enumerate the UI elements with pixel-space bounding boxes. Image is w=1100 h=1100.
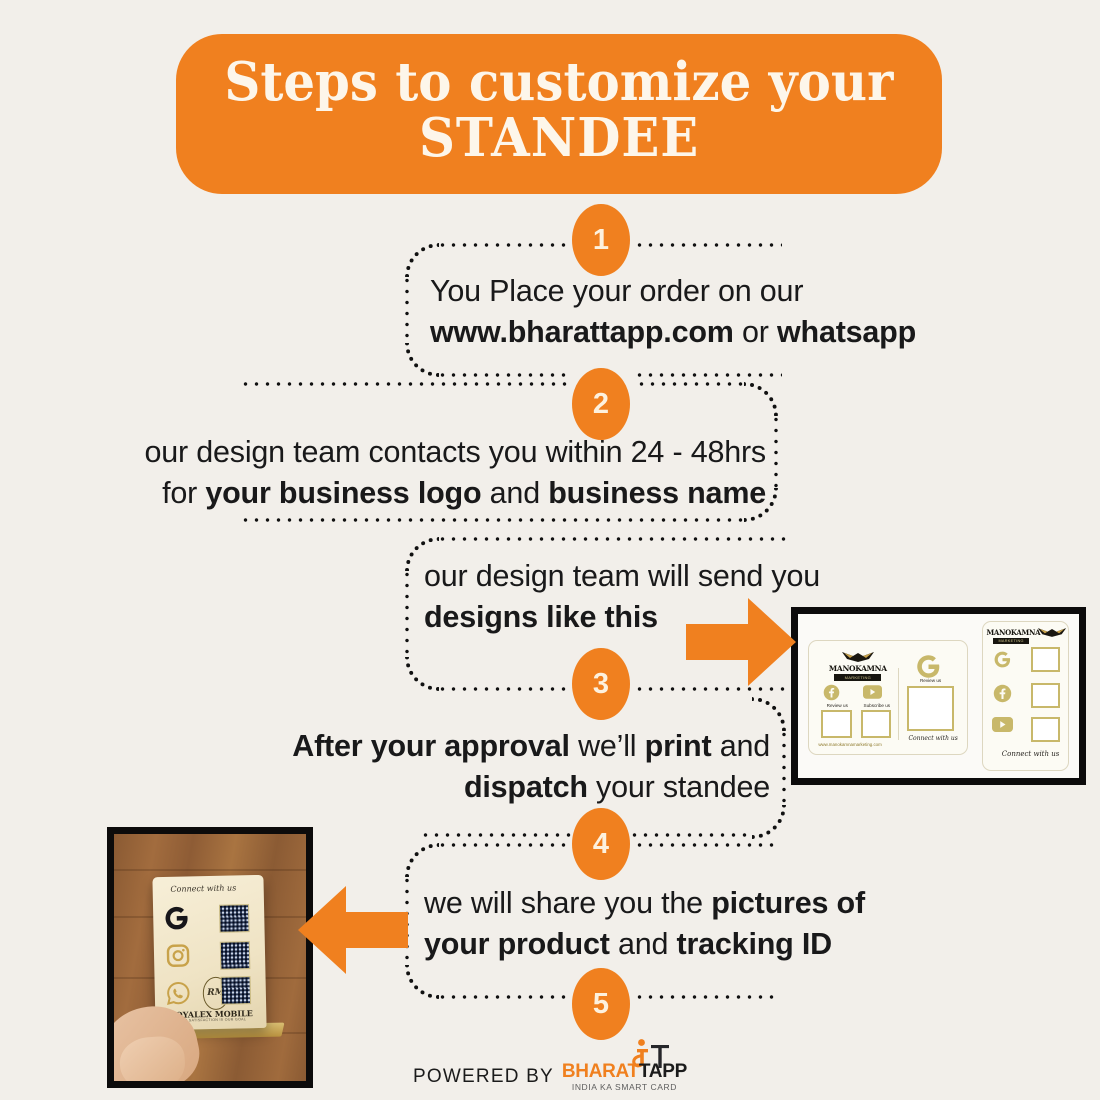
step-4-line-1-end: and [711,729,770,763]
step-5-line-1-prefix: we will share you the [424,886,711,920]
powered-by-label: POWERED BY [413,1066,554,1088]
design-qr-placeholder-2 [861,710,891,738]
step-1-text: You Place your order on our www.bharatta… [430,271,970,352]
standee-qr-3 [221,976,251,1005]
wings-m-icon-tall [1037,626,1067,639]
design-qr-placeholder-1 [821,710,851,738]
design-connect-script-tall: Connect with us [1002,750,1060,758]
step-5-tracking-phrase: tracking ID [677,927,832,961]
step-1-channel: whatsapp [777,315,916,349]
design-website: www.manokamnamarketing.com [818,742,881,747]
step-4-line-2-end: your standee [588,770,770,804]
standee-card: Connect with us [153,875,268,1030]
step-2-conjunction: and [481,476,548,510]
design-review-label: Review us [820,703,855,708]
step-1-url: www.bharattapp.com [430,315,734,349]
design-qr-tall-3 [1031,717,1060,742]
standee-whatsapp-icon [166,981,192,1012]
step-4-dispatch-word: dispatch [464,770,588,804]
step-4-print-word: print [645,729,712,763]
step-2-name-phrase: business name [548,476,766,510]
step-5-pictures-phrase: pictures of [711,886,865,920]
title-line-1: Steps to customize your [225,56,894,108]
design-brand-name: MANOKAMNA [820,664,896,673]
youtube-icon-tall [992,717,1013,737]
bharattapp-name: BHARATTAPP [562,1062,687,1081]
design-brand-name-tall: MANOKAMNA [986,628,1035,637]
step-5-product-phrase: your product [424,927,610,961]
bharattapp-brand: BHARATTAPP INDIA KA SMART CARD [562,1062,687,1092]
step-3-line-1: our design team will send you [424,559,820,593]
design-brand-sub-tall: MARKETING [993,638,1029,644]
design-preview-image: MANOKAMNA MARKETING Review us Subscribe … [791,607,1086,785]
step-badge-5: 5 [572,968,630,1040]
brand-part-2: TAPP [639,1061,687,1082]
product-photo-scene: Connect with us [114,834,306,1081]
step-2-logo-phrase: your business logo [205,476,481,510]
bharattapp-tagline: INDIA KA SMART CARD [572,1083,677,1092]
standee-instagram-icon [166,944,191,973]
design-qr-placeholder-3 [907,686,954,731]
step-3-line-2: designs like this [424,600,658,634]
design-brand-block-tall: MANOKAMNA MARKETING [986,628,1035,644]
title-banner: Steps to customize your STANDEE [176,34,942,194]
standee-qr-1 [219,904,249,933]
design-subscribe-label: Subscribe us [858,703,896,708]
arrow-left-icon [298,884,408,976]
standee-connect-script: Connect with us [171,883,237,893]
step-badge-1: 1 [572,204,630,276]
design-qr-tall-2 [1031,683,1060,708]
standee-qr-2 [220,941,250,970]
step-1-conjunction: or [734,315,777,349]
infographic-canvas: Steps to customize your STANDEE You Plac… [0,0,1100,1100]
google-g-icon-tall [993,650,1012,674]
step-5-text: we will share you the pictures of your p… [424,883,924,964]
brand-part-1: BHARAT [562,1061,639,1082]
step-2-text: our design team contacts you within 24 -… [60,432,766,513]
step-badge-2: 2 [572,368,630,440]
design-brand-block: MANOKAMNA MARKETING [820,651,896,681]
standee-google-icon [163,904,191,937]
product-photo-image: Connect with us [107,827,313,1088]
design-card-wide: MANOKAMNA MARKETING Review us Subscribe … [808,640,968,755]
step-4-line-1-mid: we’ll [570,729,645,763]
design-divider [898,668,899,740]
youtube-icon [863,685,882,704]
design-connect-script-wide: Connect with us [908,735,957,742]
design-preview-scene: MANOKAMNA MARKETING Review us Subscribe … [798,614,1079,778]
title-line-2: STANDEE [419,112,699,164]
arrow-right-icon [686,596,798,688]
step-badge-3: 3 [572,648,630,720]
design-brand-sub: MARKETING [834,674,881,681]
design-qr-tall-1 [1031,647,1060,672]
facebook-icon-tall [993,684,1012,708]
step-badge-4: 4 [572,808,630,880]
design-card-tall: MANOKAMNA MARKETING [982,621,1069,772]
step-2-line-1: our design team contacts you within 24 -… [145,435,766,469]
design-google-label: Review us [907,678,954,683]
step-2-line-2-prefix: for [162,476,205,510]
step-4-approval-phrase: After your approval [292,729,570,763]
step-5-conjunction: and [610,927,677,961]
wings-m-icon [841,651,875,663]
step-1-line-1: You Place your order on our [430,274,803,308]
step-4-text: After your approval we’ll print and disp… [170,726,770,807]
